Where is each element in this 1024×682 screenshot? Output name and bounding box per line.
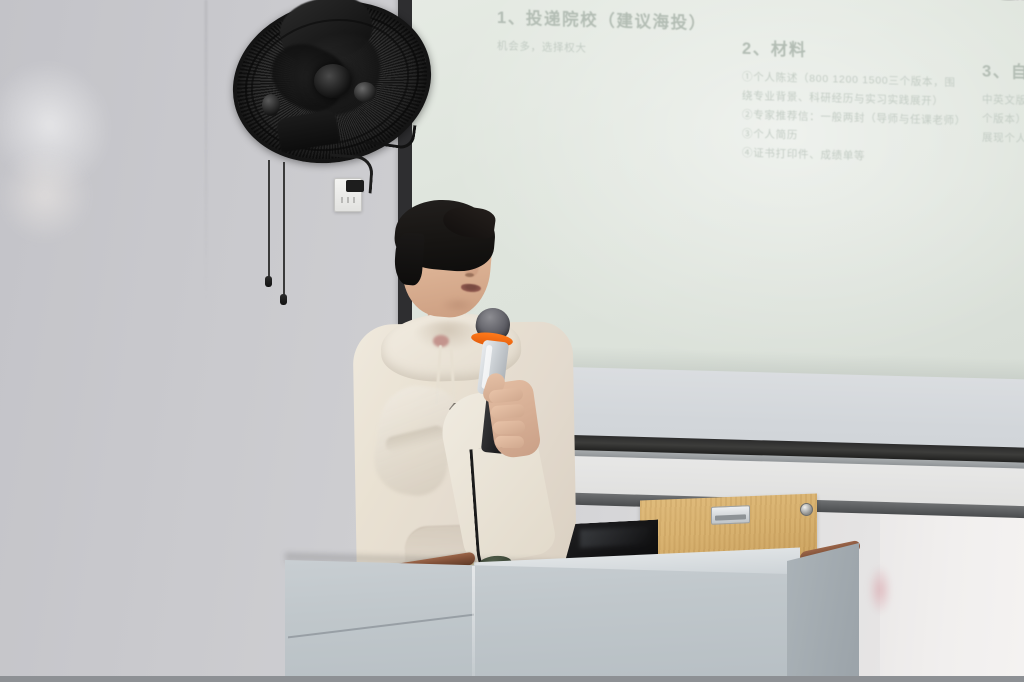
slide-line: 机会多，选择权大 <box>497 37 707 62</box>
fan-dial <box>262 94 280 116</box>
slide-column-3-body: 中英文版本 个版本） 展现个人亮 <box>982 90 1024 149</box>
fan-pull-cord-right[interactable] <box>283 162 285 296</box>
slide-column-1-heading: 1、投递院校（建议海投） <box>497 4 707 34</box>
presenter-nostril <box>465 273 474 277</box>
slide-column-3-heading: 3、自我 <box>982 57 1024 83</box>
floor-strip <box>0 676 1024 682</box>
slide-line: 中英文版本 <box>982 90 1024 111</box>
presenter-hair-side <box>393 232 425 286</box>
podium-panel-lock-icon[interactable] <box>800 503 813 516</box>
slide-column-1: 1、投递院校（建议海投） 机会多，选择权大 <box>497 4 707 62</box>
slide-column-1-body: 机会多，选择权大 <box>497 37 707 62</box>
fan-pull-cord-right-knob[interactable] <box>280 294 287 305</box>
podium-front-face <box>285 560 790 682</box>
wall-seam <box>205 0 207 300</box>
fan-knob <box>354 82 376 102</box>
presenter <box>355 205 575 605</box>
outlet-plug <box>346 180 364 192</box>
slide-column-2: 2、材料 ①个人陈述（800 1200 1500三个版本，围 绕专业背景、科研经… <box>742 35 966 169</box>
classroom-photo-scene: 1、投递院校（建议海投） 机会多，选择权大 2、材料 ①个人陈述（800 120… <box>0 0 1024 682</box>
chin-shadow <box>441 297 475 313</box>
wall-fan <box>232 0 437 179</box>
slide-line: 展现个人亮 <box>982 128 1024 149</box>
podium-monitor-sheen <box>580 526 650 548</box>
slide-column-3: 3、自我 中英文版本 个版本） 展现个人亮 <box>982 57 1024 149</box>
podium-right-face <box>787 543 859 682</box>
presenter-finger-3 <box>493 420 525 434</box>
podium-corner-edge <box>472 566 475 682</box>
fan-hub <box>314 64 352 98</box>
slide-line: 个版本） <box>982 109 1024 130</box>
wall-pink-mark <box>868 565 892 615</box>
fan-pull-cord-left-knob[interactable] <box>265 276 272 287</box>
fan-pull-cord-left[interactable] <box>268 160 270 278</box>
podium-panel-handle[interactable] <box>711 505 750 525</box>
slide-column-2-heading: 2、材料 <box>742 35 966 65</box>
presenter-finger-2 <box>491 404 526 419</box>
slide-column-2-body: ①个人陈述（800 1200 1500三个版本，围 绕专业背景、科研经历与实习实… <box>742 68 966 169</box>
